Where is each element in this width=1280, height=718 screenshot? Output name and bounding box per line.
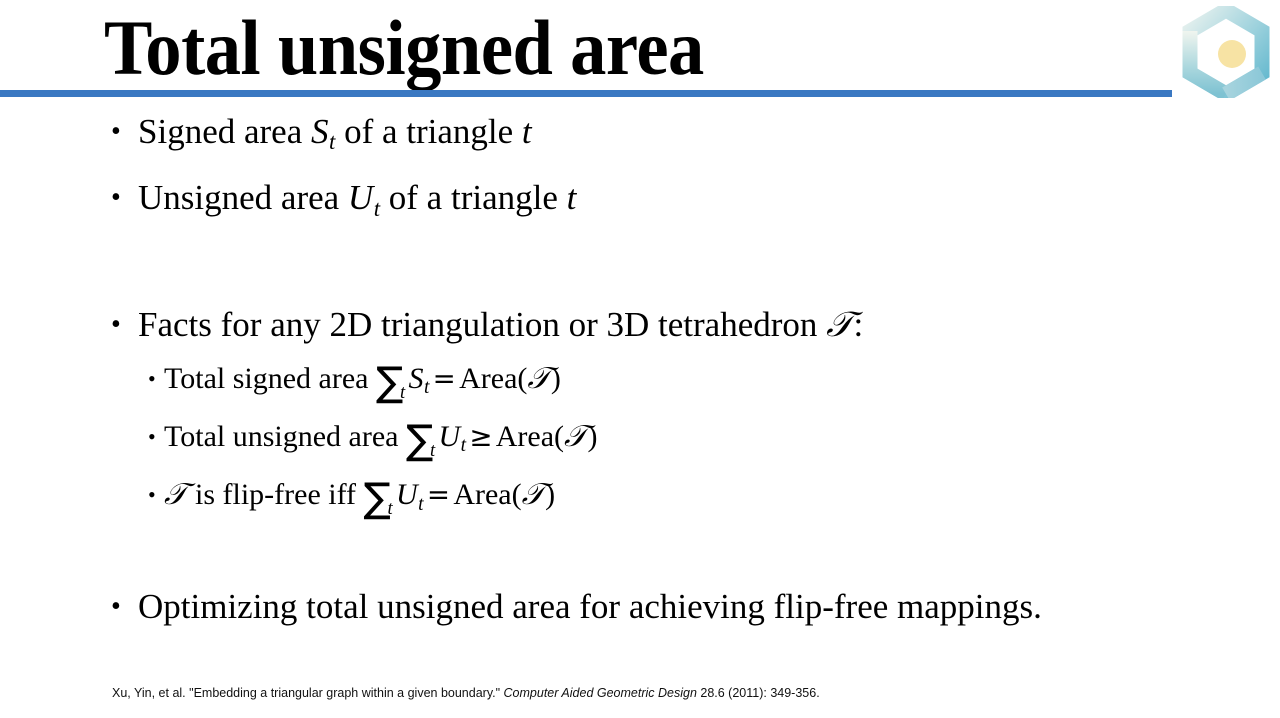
bullet-marker: • bbox=[148, 357, 164, 401]
title-divider-rule bbox=[0, 90, 1172, 97]
bullet-signed-area: • Signed area St of a triangle t bbox=[108, 108, 1280, 166]
unsigned-area-post-var: t bbox=[567, 178, 577, 217]
facts-header-pre: Facts for any 2D triangulation or 3D tet… bbox=[138, 305, 826, 344]
slide-body: • Signed area St of a triangle t • Unsig… bbox=[0, 108, 1280, 639]
flip-free-script-t: 𝒯 bbox=[164, 477, 187, 512]
total-signed-relation: = bbox=[429, 362, 459, 395]
total-signed-pre: Total signed area bbox=[164, 362, 376, 395]
bullet-marker: • bbox=[148, 415, 164, 459]
subbullet-total-signed-area: • Total signed area ∑tSt=Area(𝒯) bbox=[148, 357, 1280, 415]
citation-journal: Computer Aided Geometric Design bbox=[504, 686, 697, 700]
hexagon-g-logo bbox=[1182, 6, 1270, 98]
bullet-marker: • bbox=[108, 174, 138, 222]
signed-area-mid: of a triangle bbox=[335, 112, 522, 151]
unsigned-area-var: U bbox=[348, 178, 373, 217]
bullet-unsigned-area: • Unsigned area Ut of a triangle t bbox=[108, 174, 1280, 232]
subbullet-total-signed-area-text: Total signed area ∑tSt=Area(𝒯) bbox=[164, 357, 1280, 415]
total-unsigned-var: U bbox=[438, 420, 460, 453]
flip-free-close-paren: ) bbox=[545, 478, 555, 511]
bullet-facts-header-text: Facts for any 2D triangulation or 3D tet… bbox=[138, 301, 1280, 349]
bullet-facts-header: • Facts for any 2D triangulation or 3D t… bbox=[108, 301, 1280, 349]
subbullet-total-unsigned-area: • Total unsigned area ∑tUt≥Area(𝒯) bbox=[148, 415, 1280, 473]
citation-footnote: Xu, Yin, et al. "Embedding a triangular … bbox=[112, 685, 820, 701]
total-signed-script-t: 𝒯 bbox=[527, 361, 550, 396]
flip-free-script-t2: 𝒯 bbox=[522, 477, 545, 512]
bullet-marker: • bbox=[148, 473, 164, 517]
total-signed-close-paren: ) bbox=[551, 362, 561, 395]
signed-area-pre: Signed area bbox=[138, 112, 311, 151]
bullet-unsigned-area-text: Unsigned area Ut of a triangle t bbox=[138, 174, 1280, 232]
signed-area-post-var: t bbox=[522, 112, 532, 151]
subbullet-flip-free-iff-text: 𝒯 is flip-free iff ∑tUt=Area(𝒯) bbox=[164, 473, 1280, 531]
total-unsigned-close-paren: ) bbox=[588, 420, 598, 453]
summation-subscript: t bbox=[400, 382, 405, 403]
bullet-marker: • bbox=[108, 583, 138, 631]
body-spacer-2 bbox=[0, 531, 1280, 583]
total-unsigned-script-t: 𝒯 bbox=[564, 419, 587, 454]
total-unsigned-pre: Total unsigned area bbox=[164, 420, 406, 453]
bullet-marker: • bbox=[108, 108, 138, 156]
summation-subscript: t bbox=[430, 440, 435, 461]
body-spacer-1 bbox=[0, 241, 1280, 301]
bullet-signed-area-text: Signed area St of a triangle t bbox=[138, 108, 1280, 166]
signed-area-var: S bbox=[311, 112, 329, 151]
total-signed-var: S bbox=[408, 362, 423, 395]
total-unsigned-relation: ≥ bbox=[466, 420, 496, 453]
flip-free-area-label: Area( bbox=[453, 478, 521, 511]
total-signed-area-label: Area( bbox=[459, 362, 527, 395]
summation-subscript: t bbox=[387, 498, 392, 519]
facts-header-script-t: 𝒯 bbox=[826, 305, 853, 345]
unsigned-area-mid: of a triangle bbox=[380, 178, 567, 217]
flip-free-pre: is flip-free iff bbox=[187, 478, 363, 511]
citation-details: 28.6 (2011): 349-356. bbox=[697, 686, 820, 700]
flip-free-relation: = bbox=[424, 478, 454, 511]
bullet-marker: • bbox=[108, 301, 138, 349]
flip-free-var: U bbox=[396, 478, 418, 511]
subbullet-flip-free-iff: • 𝒯 is flip-free iff ∑tUt=Area(𝒯) bbox=[148, 473, 1280, 531]
facts-header-post: : bbox=[853, 305, 863, 344]
page-title: Total unsigned area bbox=[104, 2, 704, 94]
flip-free-var-subscript: t bbox=[418, 494, 424, 515]
total-unsigned-area-label: Area( bbox=[496, 420, 564, 453]
bullet-optimizing-text: Optimizing total unsigned area for achie… bbox=[138, 583, 1280, 631]
unsigned-area-subscript: t bbox=[373, 196, 380, 221]
bullet-optimizing: • Optimizing total unsigned area for ach… bbox=[108, 583, 1280, 631]
subbullet-total-unsigned-area-text: Total unsigned area ∑tUt≥Area(𝒯) bbox=[164, 415, 1280, 473]
citation-authors-title: Xu, Yin, et al. "Embedding a triangular … bbox=[112, 686, 504, 700]
unsigned-area-pre: Unsigned area bbox=[138, 178, 348, 217]
